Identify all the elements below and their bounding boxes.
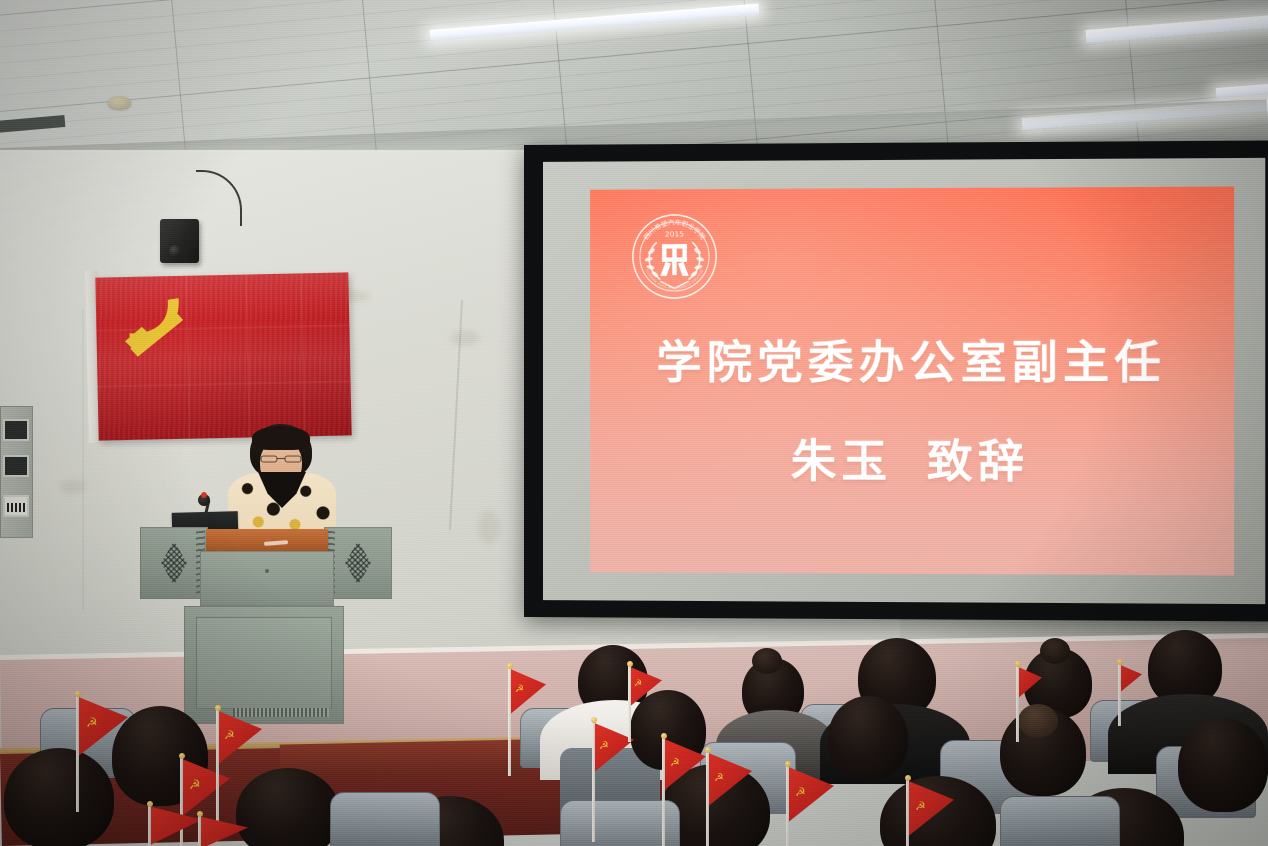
projection-screen-frame: 2015 四川希望汽车职业学院 SICHUAN HOPE AUTOMOBILE …	[524, 140, 1268, 621]
speaker-person	[228, 424, 336, 536]
slide-text-block: 学院党委办公室副主任 朱玉致辞	[590, 337, 1234, 487]
panel-window	[3, 419, 29, 441]
flag-sheen	[95, 272, 351, 440]
college-emblem-logo: 2015 四川希望汽车职业学院 SICHUAN HOPE AUTOMOBILE …	[630, 212, 719, 301]
audience-area: ☭ ☭ ☭ ☭ ☭ ☭	[0, 600, 1268, 846]
audience-head	[4, 748, 114, 846]
audience-head	[236, 768, 340, 846]
podium-diamond-pattern	[161, 541, 187, 585]
conference-hall-photo: 2015 四川希望汽车职业学院 SICHUAN HOPE AUTOMOBILE …	[0, 0, 1268, 846]
podium-wood-top	[206, 529, 328, 553]
person-fringe	[252, 426, 310, 450]
cpc-party-flag	[95, 272, 351, 440]
presentation-slide: 2015 四川希望汽车职业学院 SICHUAN HOPE AUTOMOBILE …	[590, 187, 1234, 576]
podium-diamond-pattern	[345, 541, 371, 585]
panel-meter-window	[3, 495, 29, 517]
svg-text:2015: 2015	[665, 229, 684, 238]
slide-subtitle-line: 朱玉致辞	[590, 436, 1234, 487]
audience-hair-bun	[1040, 638, 1070, 664]
speaker-name: 朱玉	[791, 434, 893, 488]
audience-head	[828, 696, 908, 780]
smoke-detector-icon	[108, 96, 131, 109]
wall-speaker-icon	[160, 219, 199, 263]
podium-top-scuff	[264, 540, 288, 546]
microphone-tip	[201, 492, 207, 498]
electrical-panel	[0, 406, 33, 538]
auditorium-seat	[1000, 796, 1120, 846]
audience-head	[1178, 718, 1268, 812]
podium-front-panel	[200, 551, 334, 606]
auditorium-seat	[330, 792, 440, 846]
slide-title-line: 学院党委办公室副主任	[590, 337, 1234, 387]
audience-hair-bun	[1018, 704, 1058, 738]
panel-window	[3, 455, 29, 477]
glasses-icon	[260, 455, 302, 463]
audience-hair-bun	[752, 648, 782, 674]
projection-screen-surface: 2015 四川希望汽车职业学院 SICHUAN HOPE AUTOMOBILE …	[543, 158, 1265, 604]
speech-action: 致辞	[927, 434, 1029, 488]
